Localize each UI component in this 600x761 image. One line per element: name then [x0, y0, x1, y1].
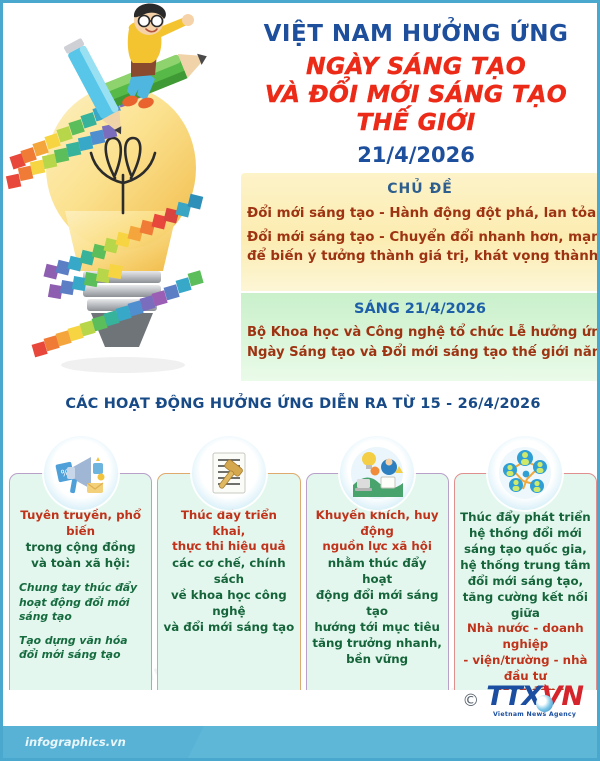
- card-4-body: Thúc đẩy phát triển hệ thống đổi mới sán…: [460, 510, 591, 621]
- card-1-italic-2: Tạo dựng văn hóa đổi mới sáng tạo: [15, 634, 146, 663]
- activities-banner: CÁC HOẠT ĐỘNG HƯỞNG ỨNG DIỄN RA TỪ 15 - …: [3, 393, 600, 421]
- logo-ttx: TTX: [486, 681, 541, 712]
- theme-panel: CHỦ ĐỀ Đổi mới sáng tạo - Hành động đột …: [241, 173, 599, 291]
- network-people-icon: [488, 436, 562, 510]
- ttxvn-logo: TTXVN Vietnam News Agency: [486, 684, 583, 718]
- copyright-icon: ©: [462, 691, 479, 711]
- logo-subtitle: Vietnam News Agency: [486, 711, 583, 718]
- title-date: 21/4/2026: [235, 143, 597, 168]
- footer-bar: infographics.vn: [3, 726, 600, 758]
- credit-block: © TTXVN Vietnam News Agency: [462, 684, 583, 718]
- illustration-svg: [3, 3, 253, 403]
- lightbulb-innovation-illustration: [3, 3, 253, 403]
- card-2-head: Thúc đẩy triển khai, thực thi hiệu quả: [163, 508, 294, 555]
- page-title: VIỆT NAM HƯỞNG ỨNG NGÀY SÁNG TẠO VÀ ĐỔI …: [235, 21, 597, 168]
- card-2-body: các cơ chế, chính sách về khoa học công …: [163, 556, 294, 636]
- event-line-1: Bộ Khoa học và Công nghệ tổ chức Lễ hưởn…: [247, 323, 593, 343]
- theme-line-2: Đổi mới sáng tạo - Chuyển đổi nhanh hơn,…: [247, 229, 593, 248]
- infographic-page: infographics.vn infographics.vn TTXVN: [0, 0, 600, 761]
- event-panel: SÁNG 21/4/2026 Bộ Khoa học và Công nghệ …: [241, 293, 599, 381]
- activity-card-3[interactable]: Khuyến khích, huy động nguồn lực xã hội …: [306, 473, 449, 701]
- resources-teamwork-icon: [340, 436, 414, 510]
- title-line-2: NGÀY SÁNG TẠO: [235, 53, 597, 81]
- activity-card-1[interactable]: % Tuyên truyền, phổ biến trong cộng đồng…: [9, 473, 152, 701]
- megaphone-promotion-icon: %: [44, 436, 118, 510]
- title-line-3: VÀ ĐỔI MỚI SÁNG TẠO THẾ GIỚI: [235, 81, 597, 136]
- card-1-body: trong cộng đồng và toàn xã hội:: [15, 540, 146, 572]
- activity-cards: % Tuyên truyền, phổ biến trong cộng đồng…: [9, 431, 597, 701]
- shadow: [61, 357, 185, 373]
- card-1-italic-1: Chung tay thúc đẩy hoạt động đổi mới sán…: [15, 581, 146, 625]
- card-1-head: Tuyên truyền, phổ biến: [15, 508, 146, 539]
- activity-card-2[interactable]: Thúc đẩy triển khai, thực thi hiệu quả c…: [157, 473, 300, 701]
- site-tag[interactable]: infographics.vn: [3, 726, 188, 758]
- title-line-1: VIỆT NAM HƯỞNG ỨNG: [235, 21, 597, 47]
- theme-heading: CHỦ ĐỀ: [247, 181, 593, 197]
- document-gavel-icon: [192, 436, 266, 510]
- theme-line-3: để biến ý tưởng thành giá trị, khát vọng…: [247, 248, 593, 267]
- card-3-body: nhằm thúc đẩy hoạt động đổi mới sáng tạo…: [312, 556, 443, 667]
- event-line-2: Ngày Sáng tạo và Đổi mới sáng tạo thế gi…: [247, 343, 593, 363]
- activities-banner-text: CÁC HOẠT ĐỘNG HƯỞNG ỨNG DIỄN RA TỪ 15 - …: [65, 396, 540, 412]
- theme-line-1: Đổi mới sáng tạo - Hành động đột phá, la…: [247, 204, 593, 224]
- site-tag-label: infographics.vn: [25, 735, 126, 749]
- event-heading: SÁNG 21/4/2026: [247, 301, 593, 317]
- activity-card-4[interactable]: Thúc đẩy phát triển hệ thống đổi mới sán…: [454, 473, 597, 701]
- card-3-head: Khuyến khích, huy động nguồn lực xã hội: [312, 508, 443, 555]
